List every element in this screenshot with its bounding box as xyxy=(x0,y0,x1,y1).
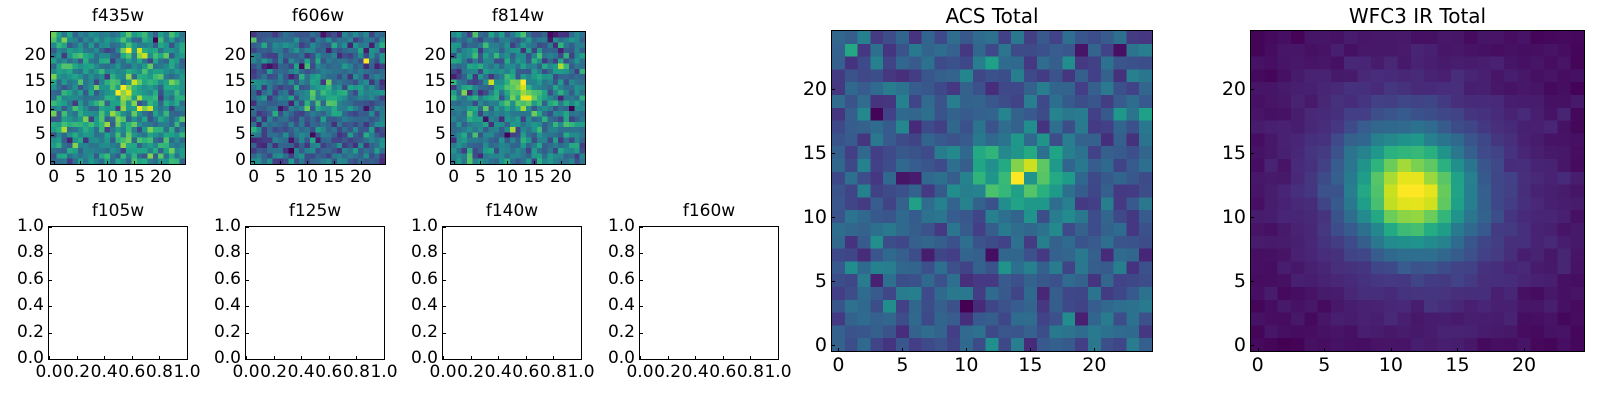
xticklabel-wfc3_ir_total-0: 0 xyxy=(1228,354,1288,376)
yticklabel-wfc3_ir_total-3: 15 xyxy=(1184,142,1246,164)
xtick-wfc3_ir_total-4 xyxy=(1524,348,1525,352)
ytick-wfc3_ir_total-3 xyxy=(1250,153,1254,154)
yticklabel-wfc3_ir_total-4: 20 xyxy=(1184,78,1246,100)
yticklabel-wfc3_ir_total-0: 0 xyxy=(1184,334,1246,356)
ytick-wfc3_ir_total-4 xyxy=(1250,89,1254,90)
ytick-wfc3_ir_total-0 xyxy=(1250,345,1254,346)
xtick-wfc3_ir_total-2 xyxy=(1391,348,1392,352)
xtick-wfc3_ir_total-1 xyxy=(1324,348,1325,352)
panel-title-wfc3_ir_total: WFC3 IR Total xyxy=(1250,4,1585,28)
xticklabel-wfc3_ir_total-1: 5 xyxy=(1294,354,1354,376)
yticklabel-wfc3_ir_total-2: 10 xyxy=(1184,206,1246,228)
xticklabel-wfc3_ir_total-4: 20 xyxy=(1494,354,1554,376)
xtick-wfc3_ir_total-0 xyxy=(1258,348,1259,352)
xtick-wfc3_ir_total-3 xyxy=(1457,348,1458,352)
ytick-wfc3_ir_total-2 xyxy=(1250,217,1254,218)
ytick-wfc3_ir_total-1 xyxy=(1250,281,1254,282)
xticklabel-wfc3_ir_total-2: 10 xyxy=(1361,354,1421,376)
xticklabel-wfc3_ir_total-3: 15 xyxy=(1427,354,1487,376)
axes-wfc3_ir_total[interactable] xyxy=(1250,30,1585,352)
yticklabel-wfc3_ir_total-1: 5 xyxy=(1184,270,1246,292)
panel-wfc3_ir_total: WFC3 IR Total0510152005101520 xyxy=(0,0,1600,400)
image-wfc3_ir_total xyxy=(1251,31,1584,351)
